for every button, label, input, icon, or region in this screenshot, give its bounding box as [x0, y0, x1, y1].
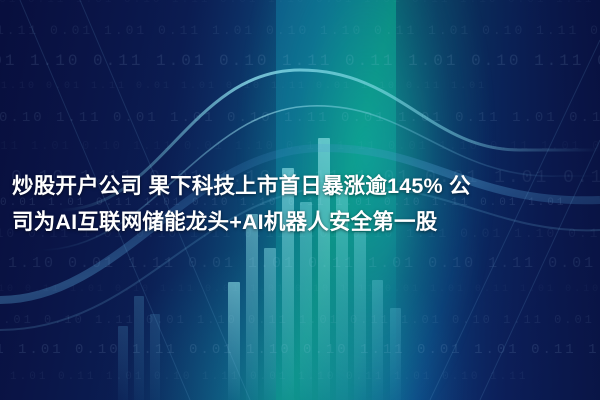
headline-line-2: 司为AI互联网储能龙头+AI机器人安全第一股: [12, 204, 588, 240]
headline-line-1: 炒股开户公司 果下科技上市首日暴涨逾145% 公: [12, 168, 588, 204]
headline-text: 炒股开户公司 果下科技上市首日暴涨逾145% 公 司为AI互联网储能龙头+AI机…: [12, 168, 588, 240]
news-thumbnail-image: 1.01 0.11 1.01 0.10 1.11 0.01 1.10 0.01 …: [0, 0, 600, 400]
